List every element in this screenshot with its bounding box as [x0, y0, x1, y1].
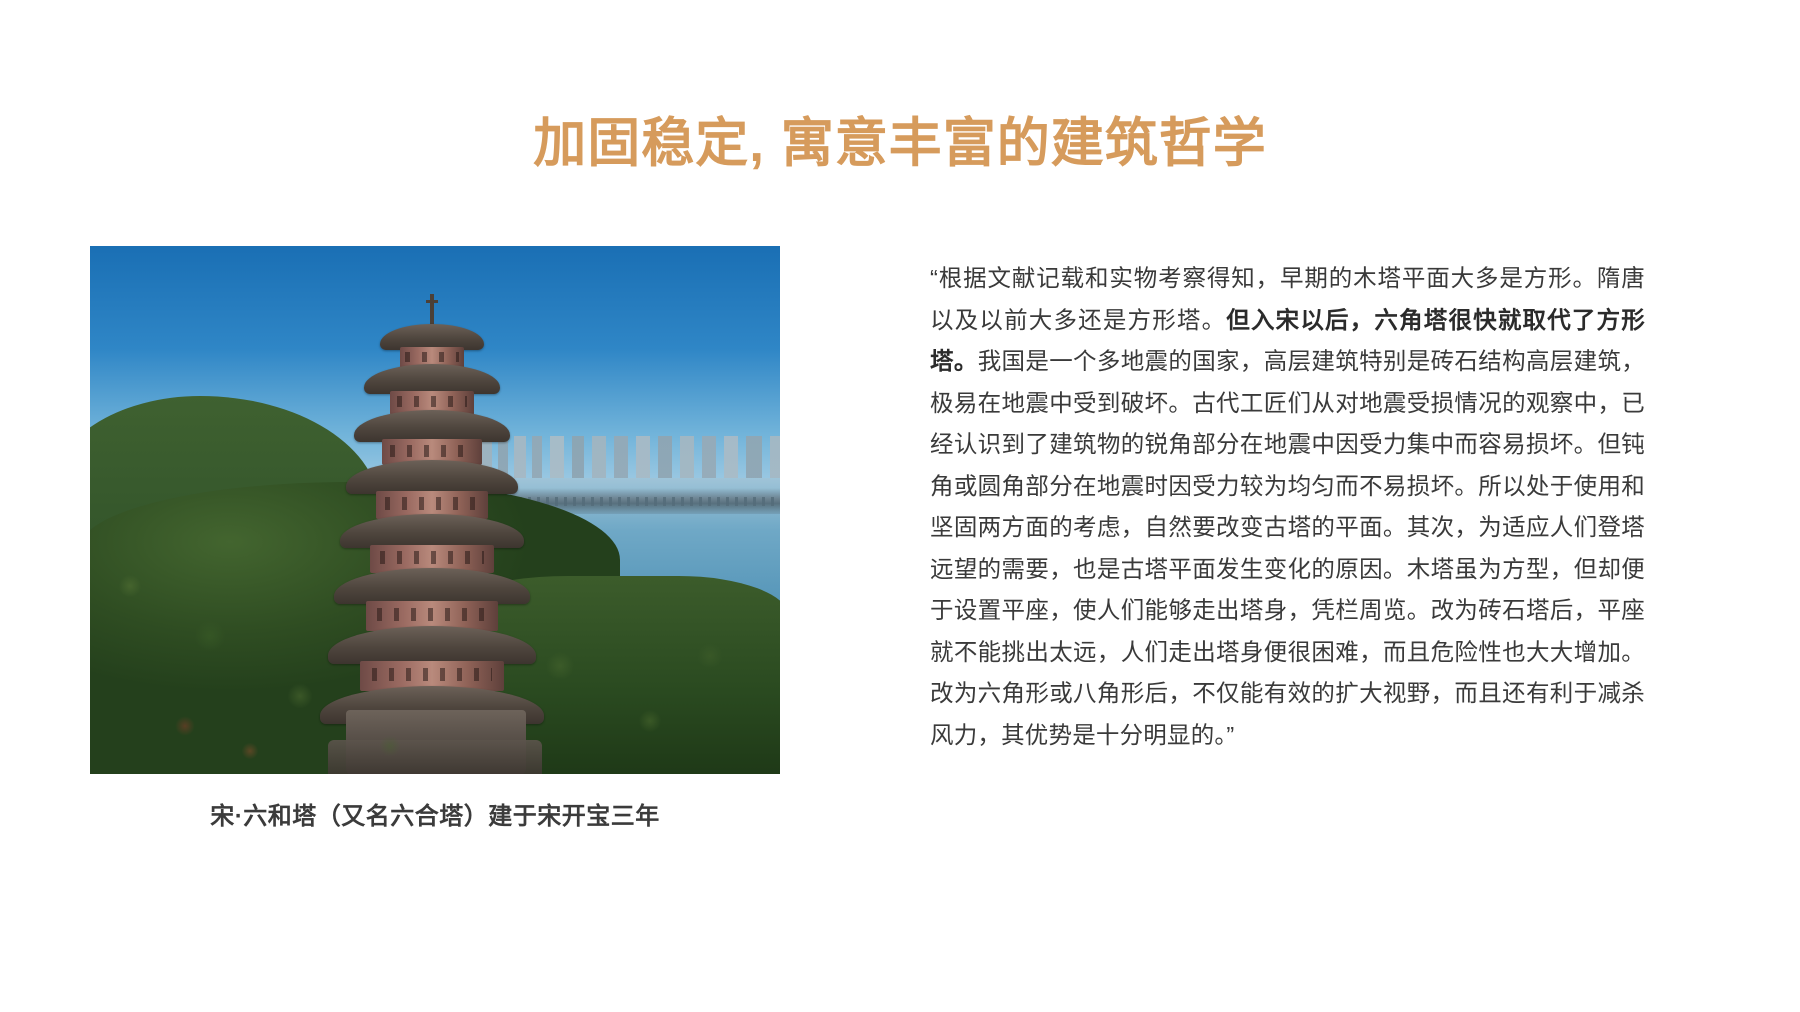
pagoda-roof-2	[364, 364, 500, 394]
pagoda-spire	[430, 294, 434, 328]
pagoda-roof-5	[340, 514, 524, 548]
article-text-run: 我国是一个多地震的国家，高层建筑特别是砖石结构高层建筑，极易在地震中受到破坏。古…	[930, 348, 1645, 748]
pagoda-roof-4	[346, 460, 518, 494]
photo-foliage-texture-layer	[90, 546, 780, 774]
slide-canvas: 加固稳定, 寓意丰富的建筑哲学	[0, 0, 1800, 1012]
pagoda-roof-3	[354, 410, 510, 442]
article-body: “根据文献记载和实物考察得知，早期的木塔平面大多是方形。隋唐以及以前大多还是方形…	[930, 258, 1645, 756]
figure-block: 宋·六和塔（又名六合塔）建于宋开宝三年	[90, 246, 780, 831]
figure-caption: 宋·六和塔（又名六合塔）建于宋开宝三年	[90, 796, 780, 831]
page-title: 加固稳定, 寓意丰富的建筑哲学	[0, 114, 1800, 175]
liuhe-pagoda-photo	[90, 246, 780, 774]
